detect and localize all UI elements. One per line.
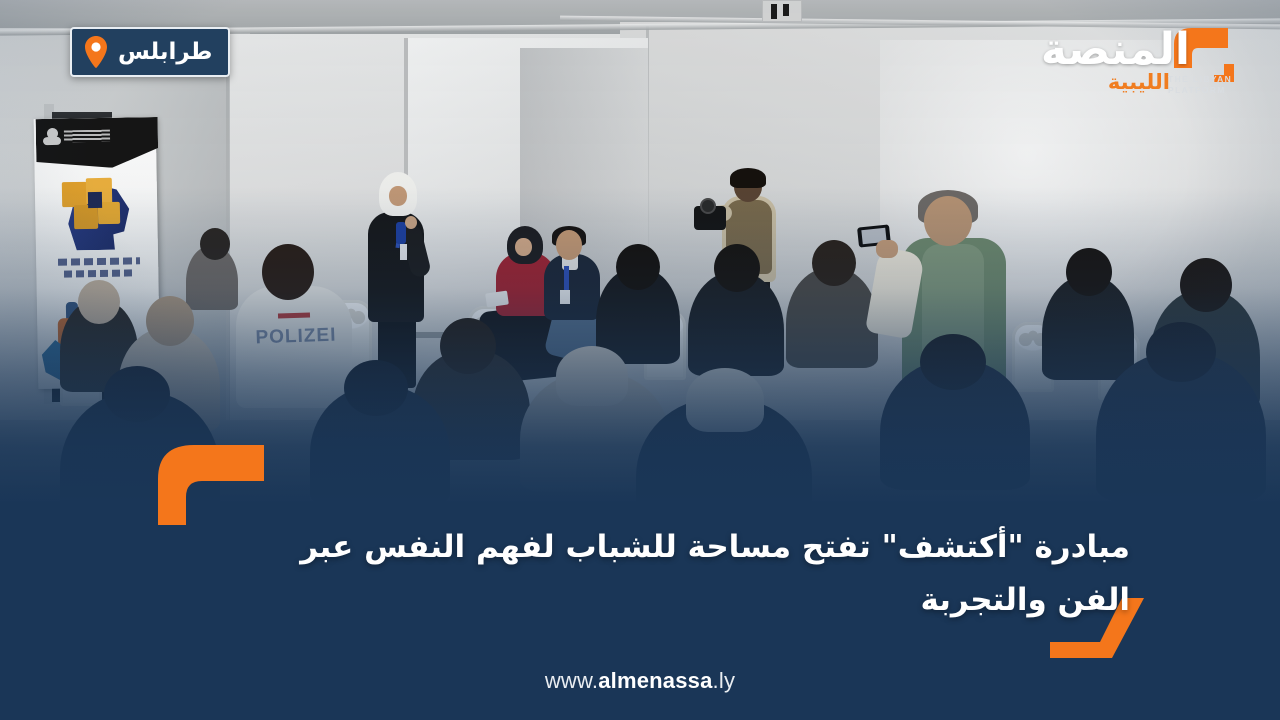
brand-arabic-name: المنصة xyxy=(1041,28,1190,72)
headline: مبادرة "أكتشف" تفتح مساحة للشباب لفهم ال… xyxy=(180,521,1130,628)
url-tld: .ly xyxy=(713,668,736,693)
url-name: almenassa xyxy=(598,668,712,693)
headline-line-1: مبادرة "أكتشف" تفتح مساحة للشباب لفهم ال… xyxy=(300,529,1130,565)
url-prefix: www. xyxy=(545,668,598,693)
social-media-card: POLIZEI طرابلس المنصة الليبي xyxy=(0,0,1280,720)
headline-line-2: الفن والتجربة xyxy=(180,574,1130,627)
brand-latin-line-1: THE LIBYAN xyxy=(1168,74,1232,84)
quote-open-mark-icon xyxy=(158,443,264,525)
map-pin-icon xyxy=(84,36,108,68)
brand-arabic-subtitle: الليبية xyxy=(1108,72,1170,93)
footer-url[interactable]: www.almenassa.ly xyxy=(0,668,1280,694)
brand-latin-name: THE LIBYAN PLATFORM xyxy=(1168,74,1238,96)
brand-latin-line-2: PLATFORM xyxy=(1168,85,1226,95)
brand-logo: المنصة الليبية THE LIBYAN PLATFORM xyxy=(1016,16,1256,102)
location-badge[interactable]: طرابلس xyxy=(70,27,230,77)
location-label: طرابلس xyxy=(118,41,212,64)
